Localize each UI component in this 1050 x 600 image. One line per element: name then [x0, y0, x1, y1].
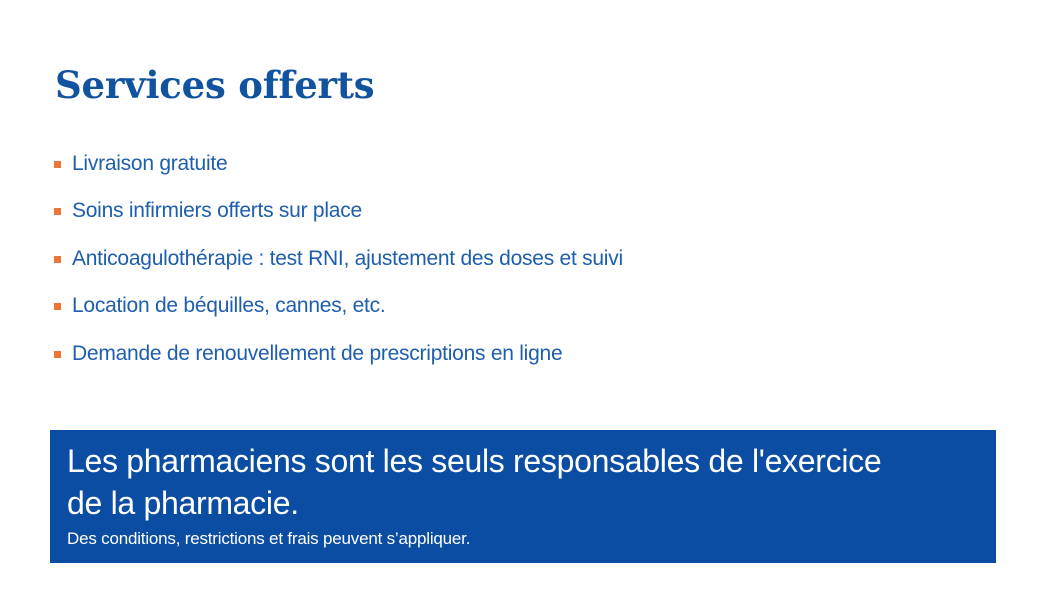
- list-item-label: Anticoagulothérapie : test RNI, ajusteme…: [72, 246, 994, 272]
- services-bullet-list: Livraison gratuite Soins infirmiers offe…: [54, 140, 994, 378]
- list-item-label: Demande de renouvellement de prescriptio…: [72, 341, 994, 367]
- square-bullet-icon: [54, 208, 61, 215]
- page-title: Services offerts: [55, 62, 374, 108]
- list-item: Anticoagulothérapie : test RNI, ajusteme…: [54, 235, 994, 283]
- callout-banner: Les pharmaciens sont les seuls responsab…: [50, 430, 996, 563]
- list-item: Location de béquilles, cannes, etc.: [54, 283, 994, 331]
- list-item: Demande de renouvellement de prescriptio…: [54, 330, 994, 378]
- list-item-label: Livraison gratuite: [72, 151, 994, 177]
- square-bullet-icon: [54, 256, 61, 263]
- slide-canvas: Services offerts Livraison gratuite Soin…: [0, 0, 1050, 600]
- square-bullet-icon: [54, 303, 61, 310]
- list-item-label: Soins infirmiers offerts sur place: [72, 198, 994, 224]
- list-item: Livraison gratuite: [54, 140, 994, 188]
- square-bullet-icon: [54, 351, 61, 358]
- list-item-label: Location de béquilles, cannes, etc.: [72, 293, 994, 319]
- callout-headline: Les pharmaciens sont les seuls responsab…: [67, 440, 897, 524]
- list-item: Soins infirmiers offerts sur place: [54, 188, 994, 236]
- square-bullet-icon: [54, 161, 61, 168]
- callout-subline: Des conditions, restrictions et frais pe…: [67, 528, 996, 550]
